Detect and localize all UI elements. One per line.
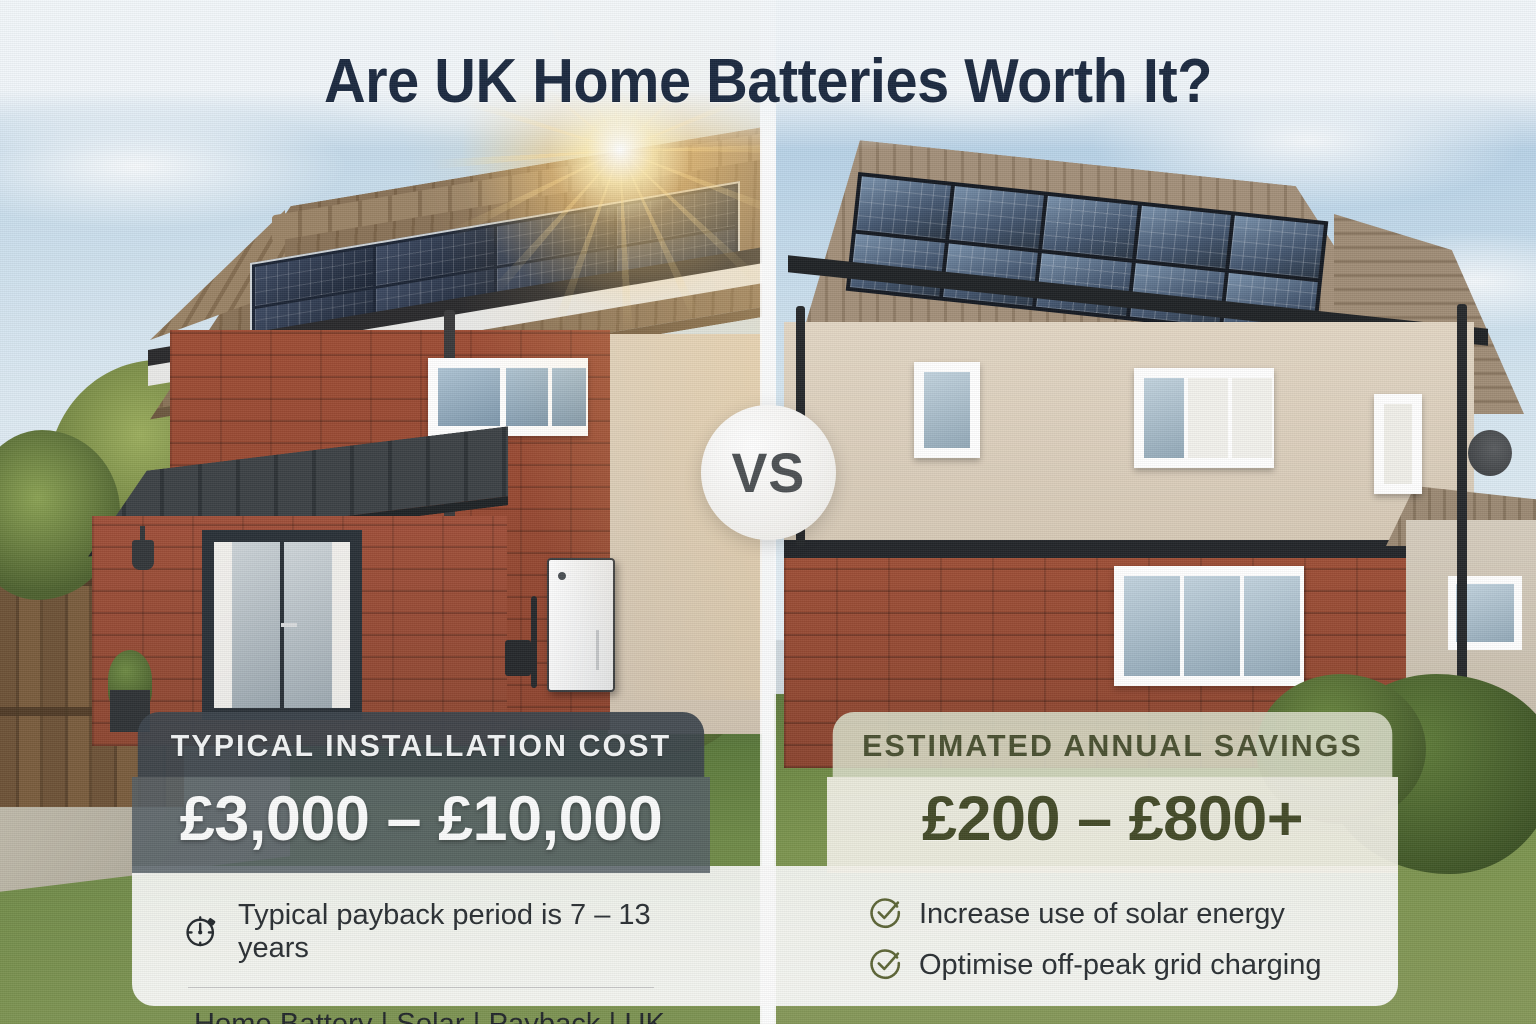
check-circle-icon: [869, 946, 903, 985]
annual-savings-heading: ESTIMATED ANNUAL SAVINGS: [833, 712, 1393, 777]
annual-savings-value: £200 – £800+: [827, 777, 1398, 873]
stopwatch-icon: [182, 911, 220, 954]
french-doors: [202, 530, 362, 720]
vs-badge-label: VS: [732, 440, 806, 505]
rendered-wall-left: [608, 334, 762, 734]
payback-note-text: Typical payback period is 7 – 13 years: [238, 899, 710, 965]
installation-cost-card: TYPICAL INSTALLATION COST £3,000 – £10,0…: [132, 712, 710, 1024]
list-item: Increase use of solar energy: [869, 895, 1398, 934]
rendered-wall-right: [784, 322, 1474, 552]
topic-tags: Home Battery | Solar | Payback | UK Cost…: [132, 988, 710, 1024]
page-title: Are UK Home Batteries Worth It?: [54, 46, 1482, 117]
upstairs-window-large-right: [1134, 368, 1274, 468]
payback-note-row: Typical payback period is 7 – 13 years: [132, 873, 710, 965]
home-battery-unit: [547, 558, 615, 692]
isolator-box: [505, 640, 531, 676]
list-item-label: Optimise off-peak grid charging: [919, 949, 1321, 982]
annual-savings-card: ESTIMATED ANNUAL SAVINGS £200 – £800+ In…: [827, 712, 1398, 985]
list-item: Optimise off-peak grid charging: [869, 946, 1398, 985]
installation-cost-heading: TYPICAL INSTALLATION COST: [138, 712, 704, 777]
infographic-canvas: Are UK Home Batteries Worth It? VS TYPIC…: [0, 0, 1536, 1024]
wall-lantern: [132, 540, 154, 570]
installation-cost-value: £3,000 – £10,000: [132, 777, 710, 873]
satellite-dish-icon: [1468, 430, 1512, 476]
list-item-label: Increase use of solar energy: [919, 898, 1285, 931]
savings-benefits-list: Increase use of solar energy Optimise of…: [827, 873, 1398, 985]
upstairs-window-narrow-right: [1374, 394, 1422, 494]
check-circle-icon: [869, 895, 903, 934]
upstairs-window-left: [428, 358, 588, 436]
electrical-conduit: [531, 596, 537, 688]
vs-badge: VS: [701, 405, 836, 540]
upstairs-window-small-right: [914, 362, 980, 458]
downstairs-window-right: [1114, 566, 1304, 686]
